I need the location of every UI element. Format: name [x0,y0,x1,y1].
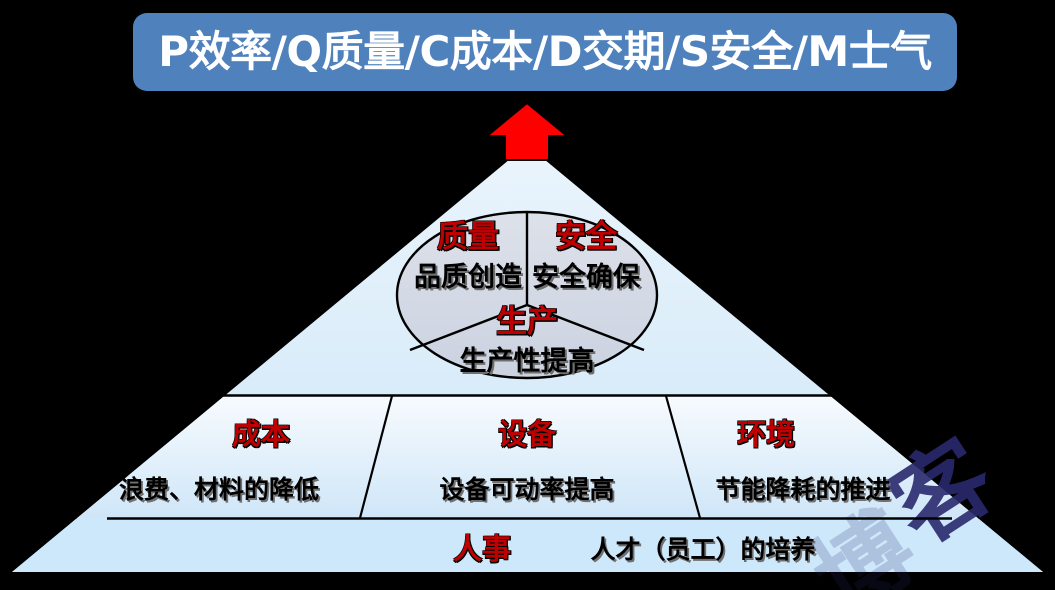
up-arrow-icon [487,103,567,160]
pyramid-diagram: 客 博 [0,0,1055,590]
slide-canvas: P效率/Q质量/C成本/D交期/S安全/M士气 [0,0,1055,590]
